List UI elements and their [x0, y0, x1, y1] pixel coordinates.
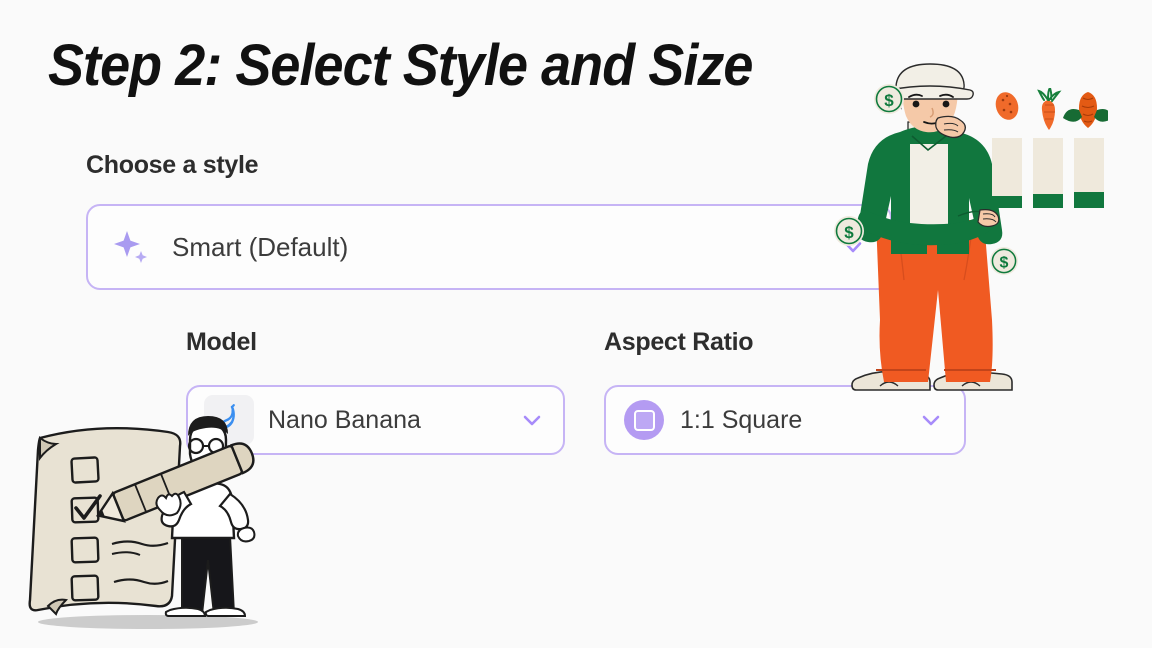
- choose-style-label: Choose a style: [86, 151, 258, 180]
- model-label: Model: [186, 328, 257, 357]
- aspect-ratio-label: Aspect Ratio: [604, 328, 753, 357]
- dollar-coin: $: [832, 214, 866, 248]
- svg-text:$: $: [884, 91, 894, 110]
- style-dropdown[interactable]: Smart (Default): [86, 204, 892, 290]
- style-dropdown-value: Smart (Default): [172, 232, 838, 263]
- sparkle-icon: [110, 225, 154, 269]
- svg-text:$: $: [1000, 255, 1009, 272]
- vegetable-bar-chart-illustration: [988, 88, 1108, 223]
- page-title: Step 2: Select Style and Size: [48, 32, 752, 99]
- person-with-pencil-illustration: [18, 410, 308, 640]
- square-ratio-icon: [624, 400, 664, 440]
- svg-text:$: $: [844, 223, 854, 242]
- square-ratio-inner: [634, 410, 655, 431]
- dollar-coin: $: [988, 245, 1020, 277]
- chevron-down-icon[interactable]: [517, 405, 547, 435]
- dollar-coin: $: [872, 82, 906, 116]
- slide-canvas: Step 2: Select Style and Size Choose a s…: [0, 0, 1152, 648]
